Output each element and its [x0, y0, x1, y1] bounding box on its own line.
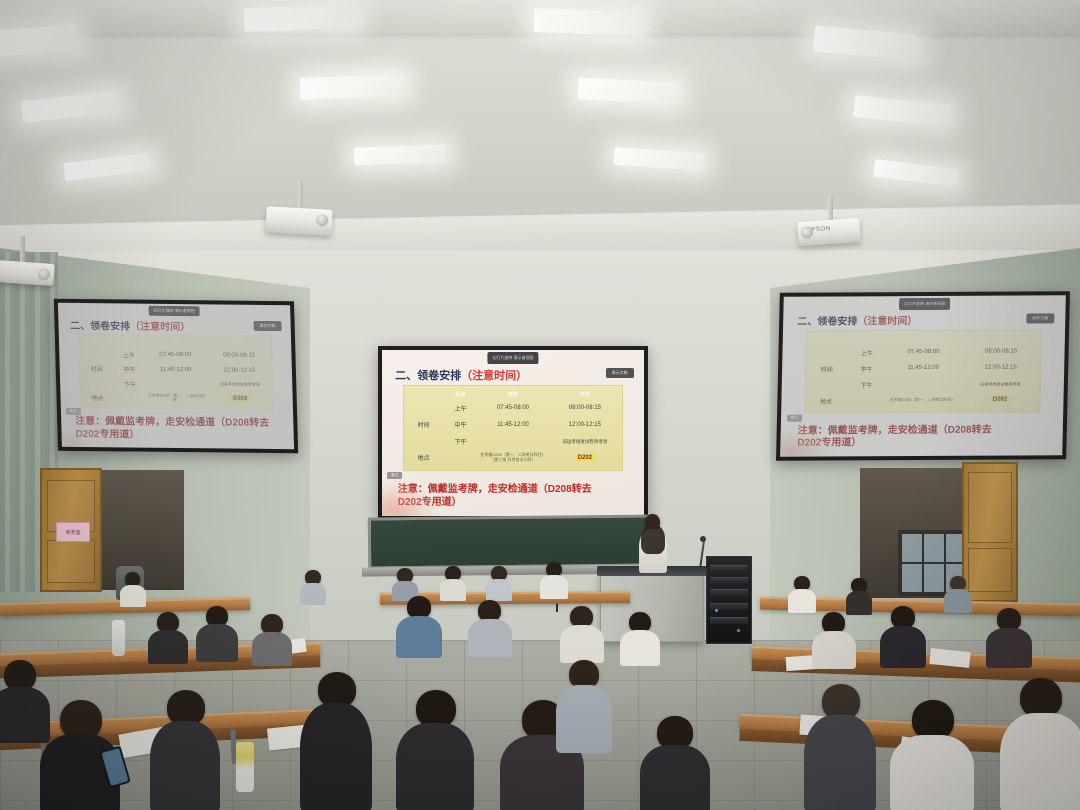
audience-member [620, 612, 660, 662]
audience-member [788, 576, 816, 610]
torso [252, 632, 292, 666]
audience-member [540, 562, 568, 598]
door-upper-panel [968, 472, 1012, 543]
torso [986, 628, 1032, 668]
torso [620, 630, 660, 666]
audience-member [440, 566, 466, 598]
torso [396, 616, 442, 658]
torso [468, 619, 512, 657]
table-header-start: 开考 [206, 340, 272, 348]
table-row-label-place: 地点 [404, 453, 443, 462]
slide-petal-decoration [382, 479, 440, 516]
torso [300, 583, 326, 605]
torso [300, 703, 372, 810]
table-row-label-time: 时间 [79, 364, 114, 373]
audience-member [300, 672, 372, 810]
table-row-label-time: 时间 [806, 364, 848, 373]
table-row: 上午 07:45-08:00 08:00-08:15 [806, 347, 1041, 357]
audience-member [150, 690, 220, 810]
slide-badge: 演示文稿 [253, 321, 281, 331]
room-highlight: D202 [230, 396, 251, 402]
slide-table: 科目 领卷 开考 上午 07:45-08:00 08:00-08:15 时间 中… [804, 329, 1043, 413]
table-header-row: 科目 领卷 开考 [78, 336, 271, 349]
torso [812, 631, 856, 669]
torso [148, 630, 188, 664]
left-slide: 幻灯片放映 演示者视图 二、领卷安排（注意时间） 演示文稿 科目 领卷 开考 上… [58, 303, 294, 449]
table-header-collect: 领卷 [478, 391, 548, 398]
table-row-place: 地点 艺术楼D208（第一、二场考试科目） D202 [80, 393, 273, 404]
table-header-subject: 科目 [443, 391, 478, 398]
projector-center-left [265, 206, 332, 235]
audience-member [148, 612, 188, 660]
table-row: 上午 07:45-08:00 08:00-08:15 [404, 404, 622, 413]
status-led [737, 629, 740, 632]
torso [150, 721, 220, 810]
ceiling-lamp [243, 4, 356, 32]
torso [640, 745, 710, 810]
slide-petal-decoration [780, 421, 843, 457]
audience-member [560, 606, 604, 660]
torso [556, 685, 612, 753]
table-row: 下午 旧运考场发试卷到考场 [404, 437, 622, 446]
ceiling-lamp [299, 74, 404, 100]
chalkboard [368, 514, 659, 569]
table-header-row: 科目 领卷 开考 [806, 332, 1041, 345]
ceiling-lamp [533, 8, 642, 36]
left-screen: 幻灯片放映 演示者视图 二、领卷安排（注意时间） 演示文稿 科目 领卷 开考 上… [54, 299, 298, 453]
slide-title: 二、领卷安排（注意时间） [70, 317, 191, 333]
audience-member [120, 572, 146, 604]
slide-title: 二、领卷安排（注意时间） [395, 367, 527, 383]
room-highlight: D202 [990, 397, 1010, 403]
presenter-hair [641, 524, 665, 554]
table-row: 上午 07:45-08:00 08:00-08:15 [79, 350, 272, 361]
audience-member [468, 600, 512, 654]
audience-member [986, 608, 1032, 664]
ceiling-lamp [613, 147, 704, 171]
table-header-start: 开考 [961, 335, 1041, 342]
center-screen: 幻灯片放映 演示者视图 二、领卷安排（注意时间） 演示文稿 科目 领卷 开考 上… [378, 346, 648, 520]
ceiling-lamp [577, 77, 678, 104]
torso [196, 624, 238, 662]
torso [1000, 713, 1080, 810]
audience-member [804, 684, 876, 810]
table-header-subject: 科目 [849, 336, 887, 343]
slide-title: 二、领卷安排（注意时间） [797, 312, 917, 328]
audience-member [944, 576, 972, 610]
slide-toolbar: 幻灯片放映 演示者视图 [148, 306, 199, 317]
table-header-subject: 科目 [113, 339, 144, 346]
projector-lens-icon [801, 226, 814, 239]
audience-member [392, 568, 418, 598]
av-unit [710, 589, 748, 596]
audience-member [396, 690, 474, 810]
table-row-place: 地点 艺术楼D208（第一、二场考试科目） D202 [805, 395, 1040, 405]
audience-member [396, 596, 442, 654]
torso [440, 579, 466, 601]
slide-petal-decoration [61, 415, 113, 447]
ceiling-lamp [63, 153, 151, 181]
table-row: 时间 中午 11:45-12:00 12:00-12:15 [404, 420, 622, 429]
right-screen: 幻灯片放映 演示者视图 二、领卷安排（注意时间） 演示文稿 科目 领卷 开考 上… [776, 291, 1070, 460]
slide-corner-tag: 备注 [387, 472, 402, 479]
torso [396, 723, 474, 810]
projector-mount-pole [828, 196, 833, 222]
slide-badge: 演示文稿 [1026, 313, 1054, 323]
torso [880, 626, 926, 668]
torso [804, 715, 876, 810]
slide-badge: 演示文稿 [606, 368, 634, 378]
table-row: 时间 中午 11:45-12:00 12:00-12:15 [79, 364, 272, 375]
slide-toolbar: 幻灯片放映 演示者视图 [899, 298, 950, 309]
left-door[interactable]: 考务室 [40, 468, 102, 592]
presenter [636, 514, 670, 578]
projector-left-far [0, 260, 55, 286]
slide-toolbar: 幻灯片放映 演示者视图 [487, 352, 538, 364]
door-sign: 考务室 [56, 522, 90, 542]
table-row: 下午 旧运考场发试卷到考场 [805, 379, 1040, 389]
table-row-label-place: 地点 [805, 396, 847, 405]
table-row: 下午 旧运考场发试卷到考场 [80, 379, 273, 390]
audience-member [880, 606, 926, 664]
projector-lens-icon [38, 268, 51, 281]
audience-member [196, 606, 238, 658]
head [1020, 678, 1062, 718]
torso [944, 589, 972, 613]
water-bottle [112, 620, 125, 656]
ceiling-lamp [0, 24, 79, 59]
audience-member [890, 700, 974, 810]
ceiling-lamp [353, 144, 446, 165]
av-unit [710, 565, 748, 572]
status-led [715, 609, 718, 612]
microphone-icon [700, 536, 706, 542]
door-lower-panel [968, 548, 1012, 592]
audience-member [1000, 678, 1080, 810]
table-row-label-place: 地点 [80, 393, 115, 402]
audience-member [556, 660, 612, 750]
audience-member [486, 566, 512, 598]
ceiling-lamp [873, 159, 959, 187]
torso [560, 625, 604, 663]
head [912, 700, 954, 740]
projector-right: EPSON [797, 218, 861, 246]
table-header-start: 开考 [548, 391, 622, 398]
audience-member [812, 612, 856, 666]
av-unit [710, 617, 748, 624]
table-header-row: 科目 领卷 开考 [404, 388, 622, 401]
ceiling-lamp [853, 95, 951, 127]
slide-table: 科目 领卷 开考 上午 07:45-08:00 08:00-08:15 时间 中… [403, 385, 623, 471]
center-slide: 幻灯片放映 演示者视图 二、领卷安排（注意时间） 演示文稿 科目 领卷 开考 上… [382, 350, 644, 516]
table-header-collect: 领卷 [886, 335, 961, 342]
projector-lens-icon [316, 214, 329, 227]
av-unit [710, 577, 748, 584]
torso [788, 589, 816, 613]
audience-member [252, 614, 292, 662]
projector-mount-pole [298, 182, 303, 210]
ceiling-lamp [21, 91, 119, 123]
torso [540, 575, 568, 599]
slide-table: 科目 领卷 开考 上午 07:45-08:00 08:00-08:15 时间 中… [77, 333, 274, 410]
audience-member [640, 716, 710, 810]
table-header-collect: 领卷 [144, 339, 206, 347]
torso [890, 735, 974, 810]
door-lower-panel [47, 540, 96, 583]
room-highlight: D202 [575, 455, 595, 461]
torso [120, 585, 146, 607]
audience-member [300, 570, 326, 602]
audience-member [846, 578, 872, 612]
table-row-place: 地点 艺术楼D208（第一、二场考试科目） （第三场 开考前半小时） D202 [404, 453, 622, 462]
water-bottle [236, 742, 254, 792]
right-slide: 幻灯片放映 演示者视图 二、领卷安排（注意时间） 演示文稿 科目 领卷 开考 上… [780, 295, 1066, 456]
table-row-label-time: 时间 [404, 420, 443, 429]
table-row: 时间 中午 11:45-12:00 12:00-12:15 [806, 363, 1041, 373]
av-equipment-rack [706, 556, 752, 644]
torso [486, 579, 512, 601]
lecture-hall-photo: EPSON 幻灯片放映 演示者视图 二、领卷安排（注意时间） 演示文稿 科目 领… [0, 0, 1080, 810]
